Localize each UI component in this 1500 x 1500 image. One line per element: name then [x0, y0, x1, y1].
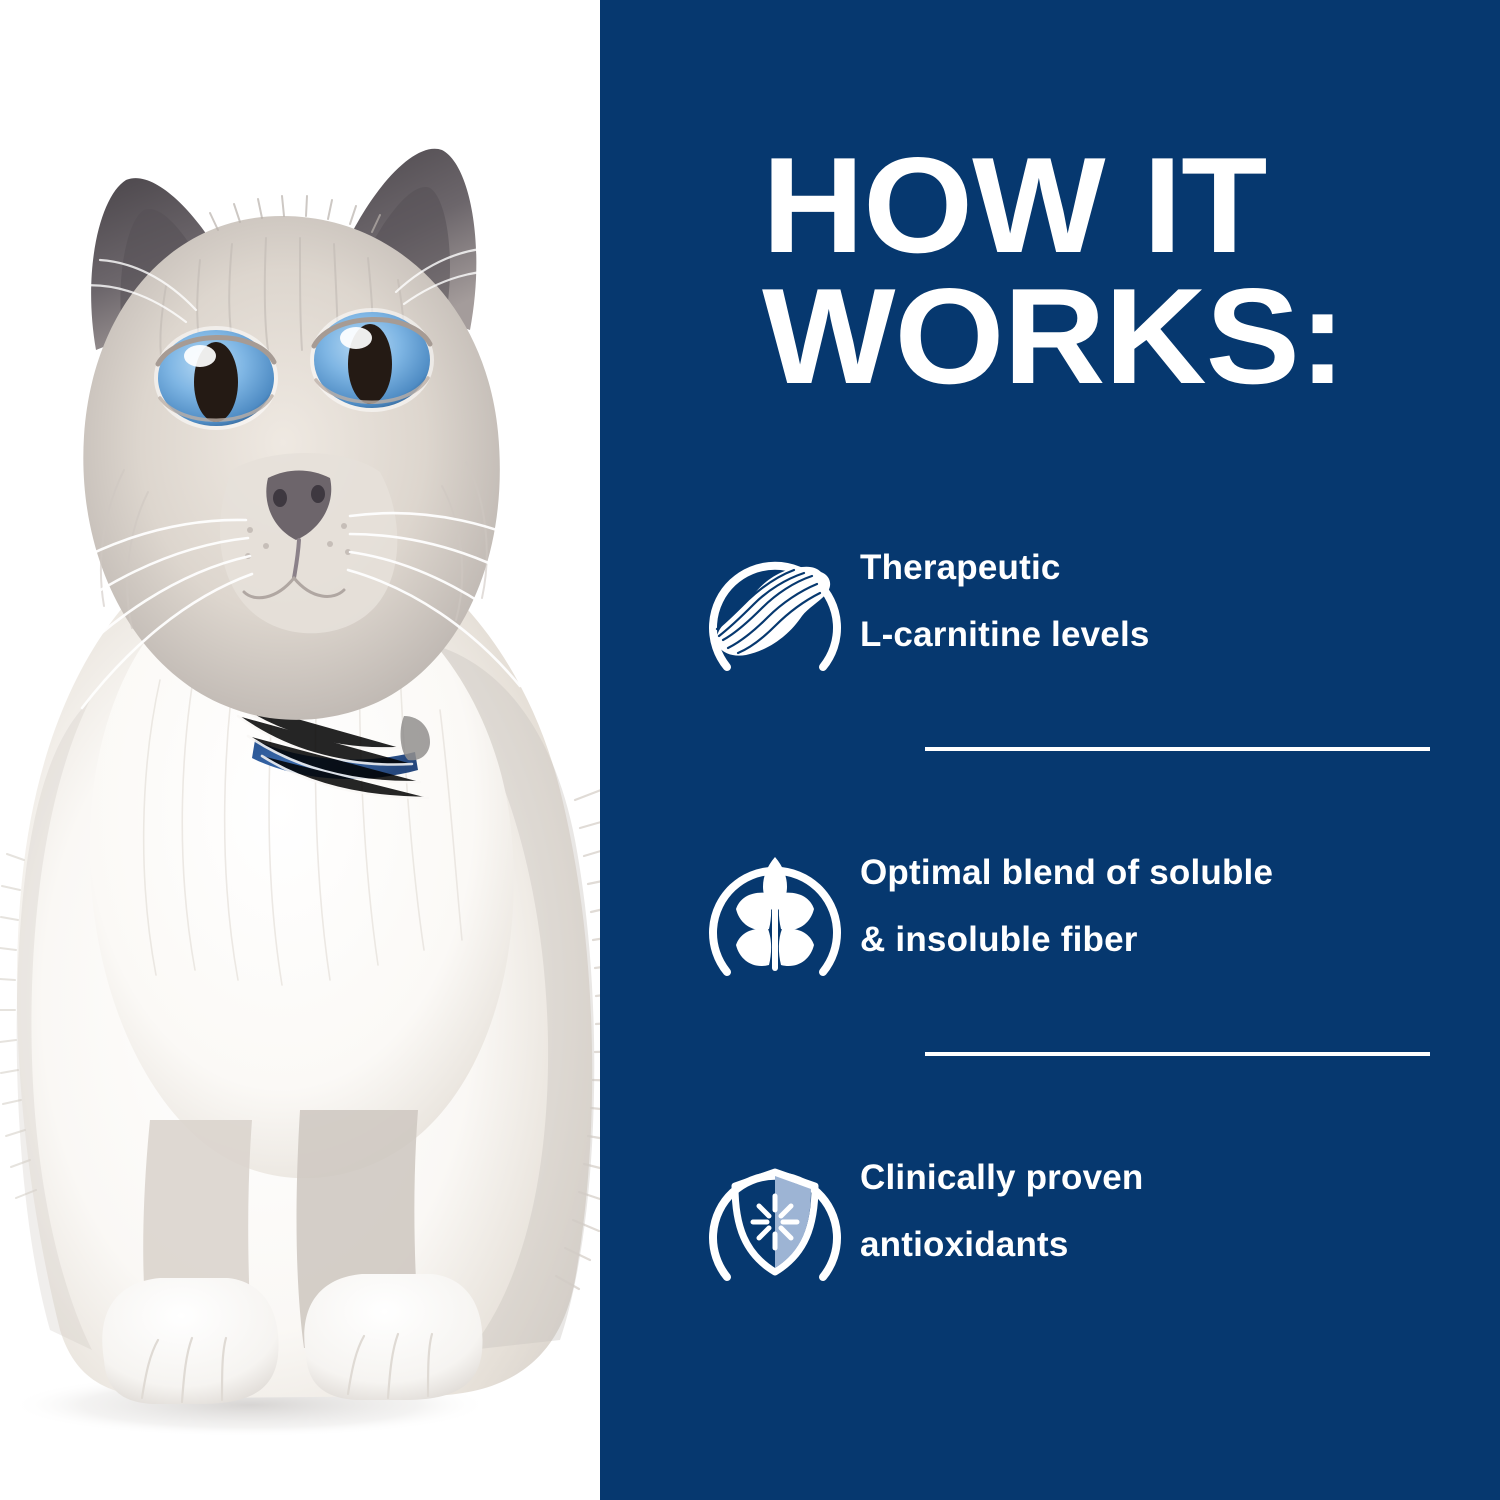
feature-item-fiber-blend: Optimal blend of soluble & insoluble fib… — [690, 833, 1450, 993]
feature-line1: Therapeutic — [860, 534, 1450, 601]
page-title-line1: HOW IT — [762, 140, 1490, 271]
cat-photo — [0, 0, 660, 1500]
feature-item-therapeutic-l-carnitine: Therapeutic L-carnitine levels — [690, 528, 1450, 688]
feature-text-therapeutic-l-carnitine: Therapeutic L-carnitine levels — [860, 528, 1450, 668]
muscle-fiber-icon — [690, 528, 860, 688]
feature-divider — [925, 1052, 1430, 1056]
cat-nostril-right — [311, 485, 325, 503]
promo-panel: HOW IT WORKS: Therapeutic L — [0, 0, 1500, 1500]
feature-line2: L-carnitine levels — [860, 601, 1450, 668]
cat-nostril-left — [273, 489, 287, 507]
cat-paw-right — [304, 1274, 482, 1400]
feature-line1: Clinically proven — [860, 1144, 1450, 1211]
wheat-stalk-icon — [690, 833, 860, 993]
feature-line2: & insoluble fiber — [860, 906, 1450, 973]
feature-text-antioxidants: Clinically proven antioxidants — [860, 1138, 1450, 1278]
page-title-line2: WORKS: — [762, 271, 1490, 402]
cat-eye-right — [310, 308, 434, 412]
page-title: HOW IT WORKS: — [762, 140, 1462, 401]
feature-text-fiber-blend: Optimal blend of soluble & insoluble fib… — [860, 833, 1450, 973]
feature-line1: Optimal blend of soluble — [860, 839, 1450, 906]
shield-antioxidant-icon — [690, 1138, 860, 1298]
feature-line2: antioxidants — [860, 1211, 1450, 1278]
feature-divider — [925, 747, 1430, 751]
feature-item-antioxidants: Clinically proven antioxidants — [690, 1138, 1450, 1298]
cat-eye-left — [154, 326, 278, 430]
